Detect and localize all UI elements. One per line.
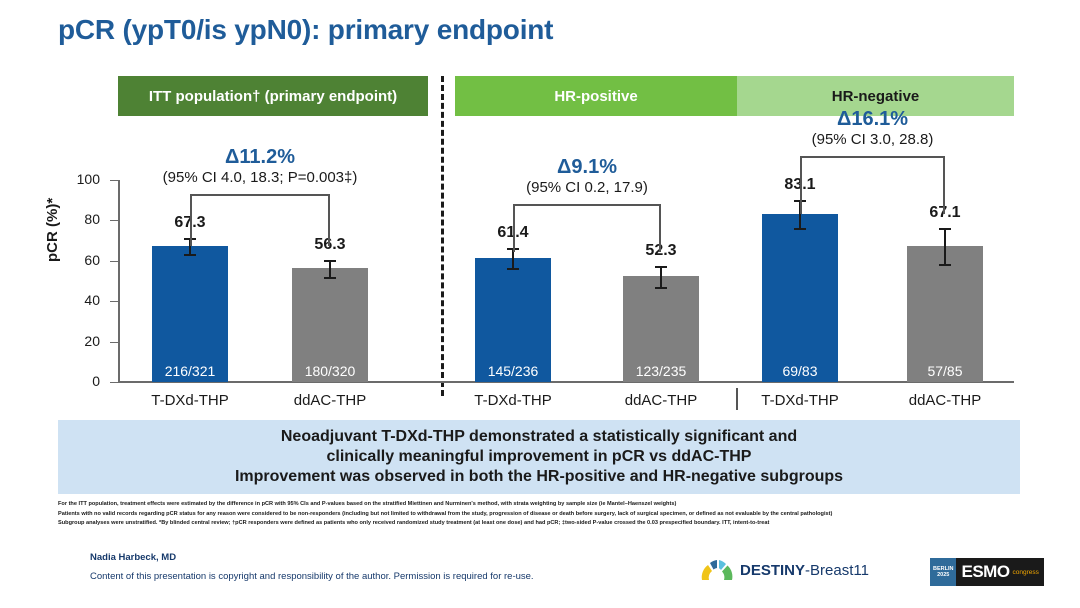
bar: 57/85 [907,246,983,382]
y-axis-title: pCR (%)* [44,198,61,262]
error-bar-cap-lower [939,264,951,266]
bar-fraction-label: 123/235 [623,363,699,379]
delta-value: Δ16.1% [723,108,1023,131]
destiny-word: DESTINY [740,562,805,579]
footnotes: For the ITT population, treatment effect… [58,500,1033,529]
y-tick-60 [110,261,118,262]
delta-annotation: Δ16.1%(95% CI 3.0, 28.8) [723,108,1023,148]
bar: 145/236 [475,258,551,382]
footnote-line-2: Patients with no valid records regarding… [58,510,1033,520]
y-tick-label-80: 80 [60,211,100,227]
page-title: pCR (ypT0/is ypN0): primary endpoint [58,14,553,46]
conclusion-line-3: Improvement was observed in both the HR-… [235,468,843,486]
y-tick-40 [110,301,118,302]
error-bar-cap-lower [324,277,336,279]
x-axis-label: ddAC-THP [880,392,1010,409]
conclusion-line-1: Neoadjuvant T-DXd-THP demonstrated a sta… [281,428,797,446]
delta-confidence-interval: (95% CI 0.2, 17.9) [437,179,737,196]
conclusion-line-2: clinically meaningful improvement in pCR… [327,448,752,466]
esmo-word: ESMO [961,562,1009,582]
y-tick-label-100: 100 [60,171,100,187]
footnote-line-1: For the ITT population, treatment effect… [58,500,1033,510]
bar: 123/235 [623,276,699,382]
x-axis-label: T-DXd-THP [448,392,578,409]
header-hr-positive: HR-positive [455,76,737,116]
comparison-bracket [800,156,945,214]
comparison-bracket [513,204,661,252]
destiny-breast11-logo: DESTINY-Breast11 [700,558,869,582]
footnote-line-3: Subgroup analyses were unstratified. *By… [58,519,1033,529]
copyright-notice: Content of this presentation is copyrigh… [90,571,534,582]
destiny-arc-icon [700,558,734,582]
y-tick-80 [110,220,118,221]
error-bar-cap-lower [794,228,806,230]
bar-fraction-label: 180/320 [292,363,368,379]
hr-subgroup-divider [736,388,738,410]
delta-confidence-interval: (95% CI 3.0, 28.8) [723,131,1023,148]
bar: 69/83 [762,214,838,382]
y-tick-0 [110,382,118,383]
error-bar-cap-upper [939,228,951,230]
x-axis-label: T-DXd-THP [735,392,865,409]
bar-fraction-label: 69/83 [762,363,838,379]
error-bar-cap-lower [655,287,667,289]
y-tick-label-40: 40 [60,292,100,308]
x-axis-label: ddAC-THP [596,392,726,409]
esmo-congress-word: congress [1013,569,1039,576]
delta-value: Δ9.1% [437,156,737,179]
y-tick-label-0: 0 [60,373,100,389]
delta-value: Δ11.2% [110,146,410,169]
delta-confidence-interval: (95% CI 4.0, 18.3; P=0.003‡) [110,169,410,186]
esmo-wordmark: ESMO congress [956,558,1043,586]
delta-annotation: Δ11.2%(95% CI 4.0, 18.3; P=0.003‡) [110,146,410,186]
comparison-bracket [190,194,330,246]
error-bar-cap-upper [324,260,336,262]
x-axis-label: T-DXd-THP [125,392,255,409]
author-name: Nadia Harbeck, MD [90,552,176,563]
bar-fraction-label: 145/236 [475,363,551,379]
esmo-berlin-year: 2025 [937,572,949,579]
breast11-word: -Breast11 [805,562,869,579]
bar-fraction-label: 216/321 [152,363,228,379]
y-tick-20 [110,342,118,343]
bar: 180/320 [292,268,368,382]
error-bar [660,266,662,287]
error-bar [944,228,946,263]
x-axis-label: ddAC-THP [265,392,395,409]
bar-fraction-label: 57/85 [907,363,983,379]
delta-annotation: Δ9.1%(95% CI 0.2, 17.9) [437,156,737,196]
esmo-congress-logo: BERLIN 2025 ESMO congress [930,558,1044,586]
conclusion-box: Neoadjuvant T-DXd-THP demonstrated a sta… [58,420,1020,494]
error-bar-cap-upper [655,266,667,268]
y-tick-label-60: 60 [60,252,100,268]
error-bar-cap-lower [184,254,196,256]
error-bar-cap-lower [507,268,519,270]
y-tick-label-20: 20 [60,333,100,349]
esmo-berlin-badge: BERLIN 2025 [930,558,956,586]
header-itt-population: ITT population† (primary endpoint) [118,76,428,116]
bar: 216/321 [152,246,228,382]
error-bar [329,260,331,277]
destiny-breast11-text: DESTINY-Breast11 [740,562,869,579]
